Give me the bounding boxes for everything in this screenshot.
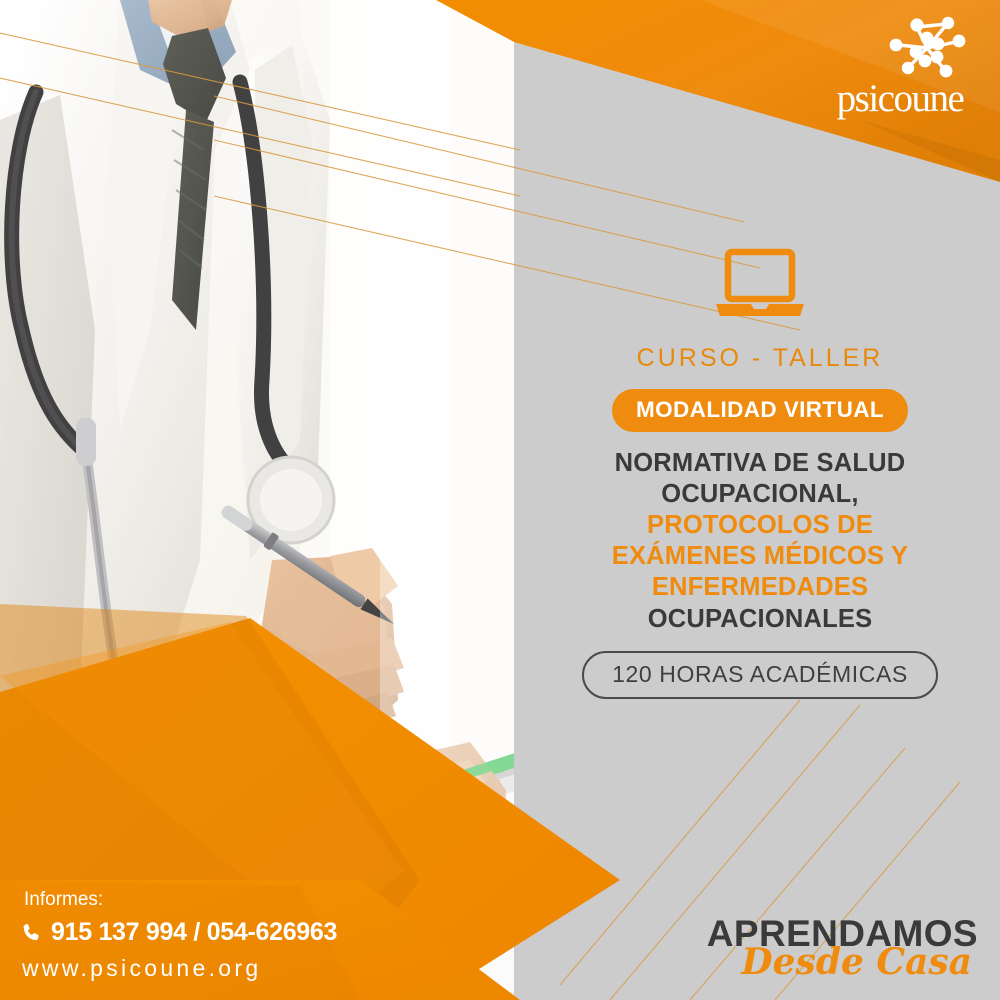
course-title-line: ENFERMEDADES xyxy=(560,572,960,603)
course-info-block: CURSO - TALLER MODALIDAD VIRTUAL NORMATI… xyxy=(560,248,960,699)
tagline-block: APRENDAMOS Desde Casa xyxy=(707,915,978,980)
course-title: NORMATIVA DE SALUD OCUPACIONAL, PROTOCOL… xyxy=(560,448,960,635)
contact-phone-number: 915 137 994 / 054-626963 xyxy=(51,918,337,947)
course-title-line: EXÁMENES MÉDICOS Y xyxy=(560,541,960,572)
phone-icon xyxy=(20,922,42,944)
doctor-photo xyxy=(0,0,514,1000)
tagline-line-2: Desde Casa xyxy=(707,944,972,980)
contact-label: Informes: xyxy=(20,889,337,911)
laptop-icon xyxy=(711,248,809,320)
course-title-line: OCUPACIONAL, xyxy=(560,479,960,510)
molecule-network-icon xyxy=(884,14,970,80)
academic-hours-badge: 120 HORAS ACADÉMICAS xyxy=(582,651,938,699)
course-title-line: NORMATIVA DE SALUD xyxy=(560,448,960,479)
course-title-line: PROTOCOLOS DE xyxy=(560,510,960,541)
brand-logo-wordmark: psicoune xyxy=(822,79,978,118)
contact-phone-row[interactable]: 915 137 994 / 054-626963 xyxy=(20,918,337,947)
modality-badge: MODALIDAD VIRTUAL xyxy=(612,389,908,432)
contact-website[interactable]: www.psicoune.org xyxy=(20,955,337,982)
course-kicker: CURSO - TALLER xyxy=(560,344,960,373)
course-title-line: OCUPACIONALES xyxy=(560,604,960,635)
contact-block: Informes: 915 137 994 / 054-626963 www.p… xyxy=(20,889,337,982)
promotional-flyer: psicoune CURSO - TALLER MODALIDAD VIRTUA… xyxy=(0,0,1000,1000)
brand-logo: psicoune xyxy=(822,14,978,118)
